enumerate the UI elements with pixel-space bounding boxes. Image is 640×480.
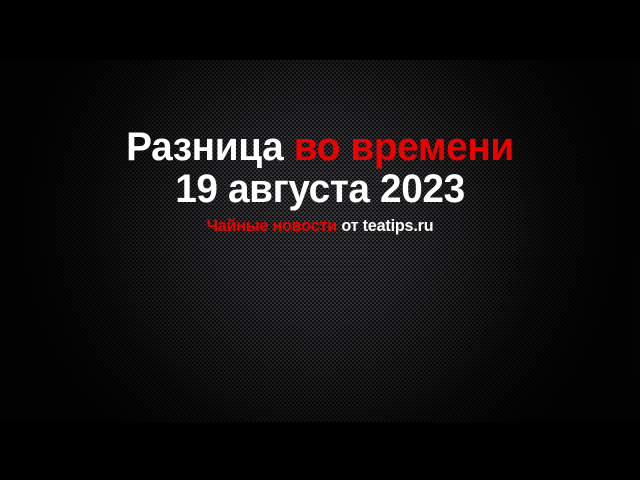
video-title-card: Разница во времени 19 августа 2023 Чайны… xyxy=(0,0,640,480)
letterbox-bar-top xyxy=(0,0,640,60)
letterbox-bar-bottom xyxy=(0,422,640,480)
carbon-fiber-texture xyxy=(0,60,640,422)
video-background-stage xyxy=(0,60,640,422)
